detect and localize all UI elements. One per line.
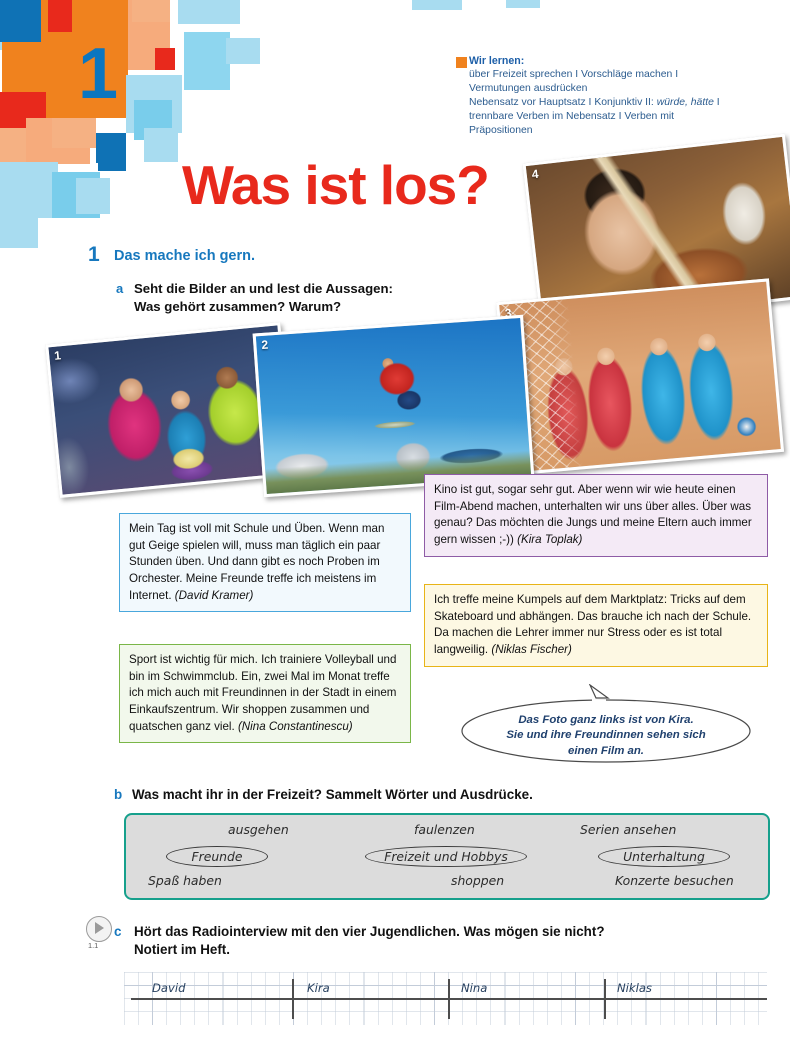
deco-square-lightblue-11 [412, 0, 462, 10]
chapter-number: 1 [78, 38, 116, 110]
speech-bubble-line-1: Das Foto ganz links ist von Kira. [470, 713, 742, 728]
statement-nina-author: (Nina Constantinescu) [238, 720, 353, 733]
task-c-instruction: Hört das Radiointerview mit den vier Jug… [134, 923, 605, 959]
photo-1-number: 1 [54, 348, 62, 363]
deco-square-lightblue-14 [76, 178, 110, 214]
audio-track-label: 1.1 [88, 941, 98, 950]
deco-square-lightblue-9 [144, 128, 178, 162]
deco-square-peach-top2 [132, 0, 170, 22]
deco-square-red-small [155, 48, 175, 70]
wir-lernen-line-3a: Nebensatz vor Hauptsatz I Konjunktiv II: [469, 97, 657, 108]
statement-david-text: Mein Tag ist voll mit Schule und Üben. W… [129, 522, 384, 602]
task-a-instruction: Seht die Bilder an und lest die Aussagen… [134, 280, 393, 316]
word-cluster-1-bottom: Spaß haben [148, 873, 222, 888]
word-cluster-1-center: Freunde [166, 846, 268, 867]
word-cluster-2-center: Freizeit und Hobbys [365, 846, 527, 867]
statement-niklas-text: Ich treffe meine Kumpels auf dem Marktpl… [434, 593, 751, 656]
wir-lernen-heading: Wir lernen: [469, 54, 769, 68]
wir-lernen-line-3c: I [714, 97, 720, 108]
wir-lernen-line-3b: würde, hätte [657, 97, 714, 108]
speech-bubble-line-2: Sie und ihre Freundinnen sehen sich [470, 728, 742, 743]
task-c-line-1: Hört das Radiointerview mit den vier Jug… [134, 923, 605, 941]
photo-2-number: 2 [261, 338, 269, 352]
statement-david-author: (David Kramer) [175, 589, 254, 602]
photo-2-skateboard: 2 [253, 315, 535, 498]
deco-square-red-top [48, 0, 72, 32]
note-grid-column-david: David [152, 981, 185, 995]
photo-3-volleyball: 3 [496, 278, 784, 475]
photo-4-number: 4 [531, 167, 539, 182]
task-a-line-1: Seht die Bilder an und lest die Aussagen… [134, 280, 393, 298]
statement-kira-author: (Kira Toplak) [517, 533, 582, 546]
deco-square-lightblue-4 [184, 32, 230, 90]
speech-bubble-text: Das Foto ganz links ist von Kira. Sie un… [470, 713, 742, 759]
wir-lernen-block: Wir lernen: über Freizeit sprechen I Vor… [469, 54, 769, 138]
word-cluster-1-top: ausgehen [228, 822, 289, 837]
page-title: Was ist los? [182, 158, 489, 213]
wir-lernen-line-3: Nebensatz vor Hauptsatz I Konjunktiv II:… [469, 96, 769, 110]
deco-square-peach-mid2 [52, 118, 96, 148]
wir-lernen-line-2: Vermutungen ausdrücken [469, 82, 769, 96]
note-grid-column-nina: Nina [461, 981, 487, 995]
task-b-letter: b [114, 787, 122, 802]
deco-square-lightblue-8 [0, 200, 38, 248]
word-cluster-2-bottom: shoppen [451, 873, 504, 888]
note-grid-divider-1 [292, 979, 294, 1019]
exercise-1-number: 1 [88, 243, 100, 267]
statement-niklas-author: (Niklas Fischer) [491, 643, 572, 656]
note-grid-column-kira: Kira [307, 981, 330, 995]
statement-box-kira: Kino ist gut, sogar sehr gut. Aber wenn … [424, 474, 768, 557]
wir-lernen-line-4: trennbare Verben im Nebensatz I Verben m… [469, 110, 769, 124]
task-a-line-2: Was gehört zusammen? Warum? [134, 298, 393, 316]
task-a-letter: a [116, 281, 123, 296]
statement-box-nina: Sport ist wichtig für mich. Ich trainier… [119, 644, 411, 743]
note-grid-column-niklas: Niklas [617, 981, 652, 995]
statement-kira-text: Kino ist gut, sogar sehr gut. Aber wenn … [434, 483, 752, 546]
statement-box-niklas: Ich treffe meine Kumpels auf dem Marktpl… [424, 584, 768, 667]
statement-box-david: Mein Tag ist voll mit Schule und Üben. W… [119, 513, 411, 612]
task-c-line-2: Notiert im Heft. [134, 941, 605, 959]
deco-square-lightblue-13 [98, 155, 126, 171]
deco-square-lightblue-12 [506, 0, 540, 8]
deco-square-lightblue-5 [226, 38, 260, 64]
wir-lernen-line-5: Präpositionen [469, 124, 769, 138]
task-c-letter: c [114, 924, 121, 939]
word-cluster-3-top: Serien ansehen [580, 822, 676, 837]
note-grid-divider-2 [448, 979, 450, 1019]
wir-lernen-line-1: über Freizeit sprechen I Vorschläge mach… [469, 68, 769, 82]
deco-square-blue-tl [0, 0, 41, 42]
task-b-instruction: Was macht ihr in der Freizeit? Sammelt W… [132, 787, 533, 802]
word-cluster-3-bottom: Konzerte besuchen [615, 873, 734, 888]
wir-lernen-marker-icon [456, 57, 467, 68]
word-cluster-3-center: Unterhaltung [598, 846, 730, 867]
note-grid-divider-3 [604, 979, 606, 1019]
word-cluster-2-top: faulenzen [414, 822, 475, 837]
deco-square-lightblue-3 [178, 0, 240, 24]
exercise-1-title: Das mache ich gern. [114, 248, 255, 264]
audio-play-triangle-icon[interactable] [95, 922, 104, 934]
speech-bubble-line-3: einen Film an. [470, 744, 742, 759]
